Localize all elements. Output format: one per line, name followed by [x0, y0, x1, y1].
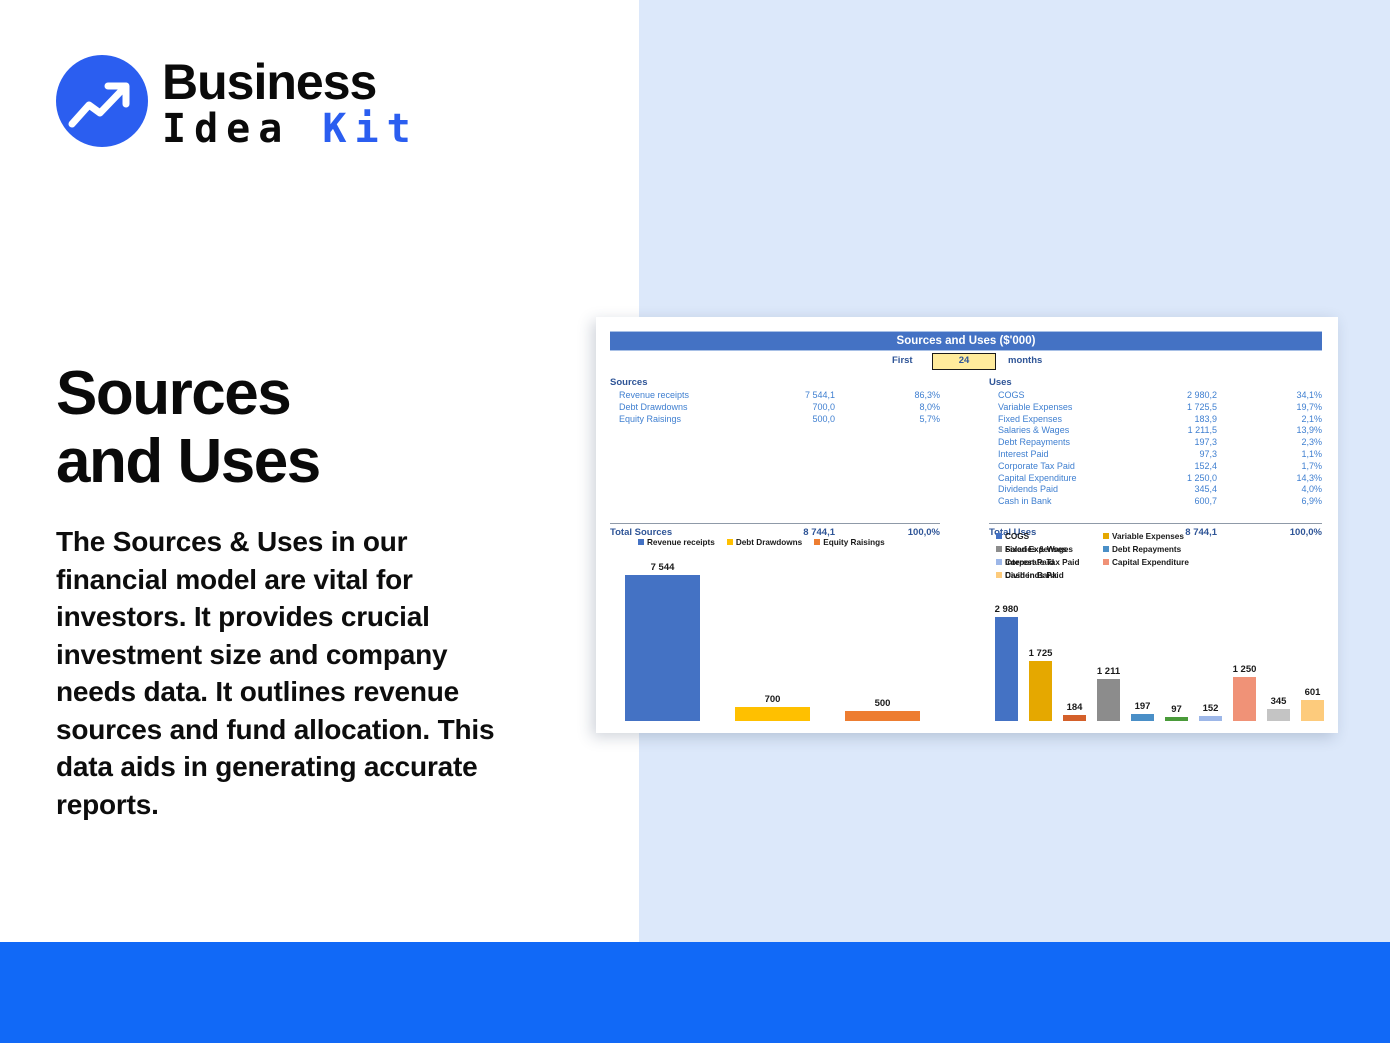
- legend-item[interactable]: Debt Repayments: [1103, 543, 1210, 556]
- legend-swatch-icon: [814, 539, 820, 545]
- bar-data-label: 601: [1289, 687, 1336, 698]
- legend-label: Corporate Tax Paid: [1005, 558, 1079, 567]
- period-prefix-label: First: [892, 355, 913, 366]
- bar-data-label: 7 544: [613, 562, 712, 573]
- legend-swatch-icon: [1103, 533, 1109, 539]
- bar: [1233, 677, 1256, 721]
- uses-row-label: COGS: [998, 390, 1025, 400]
- legend-item[interactable]: Salaries & Wages: [996, 543, 1103, 556]
- legend-swatch-icon: [1103, 546, 1109, 552]
- page-description: The Sources & Uses in our financial mode…: [56, 523, 506, 823]
- legend-swatch-icon: [727, 539, 733, 545]
- legend-swatch-icon: [996, 546, 1002, 552]
- growth-arrow-icon: [56, 55, 148, 147]
- uses-row-pct: 14,3%: [1296, 473, 1322, 483]
- slide-canvas: Business Idea Kit Sourcesand Uses The So…: [0, 0, 1390, 1043]
- uses-row-label: Cash in Bank: [998, 496, 1052, 506]
- legend-label: Variable Expenses: [1112, 532, 1184, 541]
- bar-data-label: 700: [723, 694, 822, 705]
- uses-row-value: 197,3: [1194, 437, 1217, 447]
- table-row: Cash in Bank600,76,9%: [989, 496, 1322, 508]
- table-row: Salaries & Wages1 211,513,9%: [989, 425, 1322, 437]
- period-selector-row: First 24 months: [610, 354, 1322, 370]
- brand-name-secondary-dark: Idea: [162, 106, 322, 152]
- uses-row-label: Variable Expenses: [998, 402, 1072, 412]
- bar-data-label: 500: [833, 698, 932, 709]
- uses-row-value: 345,4: [1194, 484, 1217, 494]
- legend-swatch-icon: [996, 572, 1002, 578]
- table-row: Variable Expenses1 725,519,7%: [989, 402, 1322, 414]
- brand-name-primary-text: Business: [162, 54, 376, 110]
- uses-chart-legend: COGSVariable ExpensesFixed ExpensesSalar…: [996, 530, 1316, 582]
- legend-label: Cash in Bank: [1005, 571, 1057, 580]
- table-row: Capital Expenditure1 250,014,3%: [989, 473, 1322, 485]
- sources-row-value: 700,0: [812, 402, 835, 412]
- uses-row-pct: 19,7%: [1296, 402, 1322, 412]
- uses-row-value: 1 211,5: [1188, 425, 1217, 435]
- sources-row-label: Revenue receipts: [619, 390, 689, 400]
- sources-table-header: Sources: [610, 377, 940, 388]
- sources-total-pct: 100,0%: [908, 527, 940, 538]
- table-row: Dividends Paid345,44,0%: [989, 484, 1322, 496]
- sheet-title: Sources and Uses ($'000): [610, 331, 1322, 351]
- months-input[interactable]: 24: [932, 353, 996, 370]
- uses-row-label: Interest Paid: [998, 449, 1049, 459]
- legend-label: Salaries & Wages: [1005, 545, 1073, 554]
- bar: [735, 707, 810, 721]
- legend-item[interactable]: Revenue receipts: [638, 538, 715, 547]
- uses-row-label: Dividends Paid: [998, 484, 1058, 494]
- sources-row-label: Equity Raisings: [619, 414, 681, 424]
- legend-swatch-icon: [638, 539, 644, 545]
- sources-total-label: Total Sources: [610, 527, 672, 538]
- legend-label: Equity Raisings: [823, 538, 884, 547]
- legend-label: Capital Expenditure: [1112, 558, 1189, 567]
- sources-rows: Revenue receipts7 544,186,3%Debt Drawdow…: [610, 390, 940, 425]
- sources-row-pct: 86,3%: [914, 390, 940, 400]
- legend-item[interactable]: COGS: [996, 530, 1103, 543]
- uses-row-label: Corporate Tax Paid: [998, 461, 1075, 471]
- legend-label: COGS: [1005, 532, 1029, 541]
- sources-row-value: 500,0: [812, 414, 835, 424]
- sources-total-value: 8 744,1: [803, 527, 835, 538]
- sources-total-divider: [610, 523, 940, 524]
- bar: [1301, 700, 1324, 721]
- sources-row-pct: 8,0%: [919, 402, 940, 412]
- bar: [1097, 679, 1120, 721]
- bar-data-label: 1 211: [1085, 666, 1132, 677]
- legend-item[interactable]: Equity Raisings: [814, 538, 884, 547]
- legend-label: Revenue receipts: [647, 538, 715, 547]
- brand-name-secondary-accent: Kit: [322, 106, 418, 152]
- period-suffix-label: months: [1008, 355, 1042, 366]
- uses-row-pct: 13,9%: [1296, 425, 1322, 435]
- uses-rows: COGS2 980,234,1%Variable Expenses1 725,5…: [989, 390, 1322, 508]
- uses-row-label: Fixed Expenses: [998, 414, 1062, 424]
- bar: [995, 617, 1018, 721]
- legend-label: Debt Repayments: [1112, 545, 1181, 554]
- bar: [845, 711, 920, 721]
- sources-chart-legend: Revenue receiptsDebt DrawdownsEquity Rai…: [638, 538, 938, 547]
- legend-item[interactable]: Corporate Tax Paid: [996, 556, 1103, 569]
- bar: [1199, 716, 1222, 721]
- uses-row-value: 1 250,0: [1187, 473, 1217, 483]
- sources-row-value: 7 544,1: [805, 390, 835, 400]
- bar-data-label: 2 980: [983, 604, 1030, 615]
- uses-row-value: 152,4: [1194, 461, 1217, 471]
- table-row: COGS2 980,234,1%: [989, 390, 1322, 402]
- sources-row-pct: 5,7%: [919, 414, 940, 424]
- uses-row-value: 97,3: [1199, 449, 1217, 459]
- uses-row-pct: 4,0%: [1301, 484, 1322, 494]
- legend-row: COGSVariable ExpensesFixed Expenses: [996, 530, 1316, 543]
- uses-row-value: 1 725,5: [1187, 402, 1217, 412]
- bar-data-label: 152: [1187, 703, 1234, 714]
- uses-table: Uses COGS2 980,234,1%Variable Expenses1 …: [989, 377, 1322, 508]
- legend-swatch-icon: [1103, 559, 1109, 565]
- legend-item[interactable]: Variable Expenses: [1103, 530, 1210, 543]
- legend-row: Corporate Tax PaidCapital ExpenditureDiv…: [996, 556, 1316, 569]
- footer-bar: [0, 942, 1390, 1043]
- uses-row-pct: 2,1%: [1301, 414, 1322, 424]
- bar: [1267, 709, 1290, 721]
- table-row: Corporate Tax Paid152,41,7%: [989, 461, 1322, 473]
- bar-data-label: 1 250: [1221, 664, 1268, 675]
- uses-row-value: 600,7: [1194, 496, 1217, 506]
- brand-logo: Business Idea Kit: [56, 54, 456, 154]
- uses-row-pct: 1,7%: [1301, 461, 1322, 471]
- table-row: Revenue receipts7 544,186,3%: [610, 390, 940, 402]
- uses-row-pct: 1,1%: [1301, 449, 1322, 459]
- sources-chart: 7 544700500: [625, 560, 945, 721]
- uses-row-pct: 2,3%: [1301, 437, 1322, 447]
- sources-table: Sources Revenue receipts7 544,186,3%Debt…: [610, 377, 940, 425]
- uses-row-value: 183,9: [1194, 414, 1217, 424]
- uses-chart: 2 9801 7251841 211197971521 250345601: [995, 600, 1325, 721]
- brand-name-primary: Business: [162, 54, 376, 110]
- legend-swatch-icon: [996, 533, 1002, 539]
- uses-row-pct: 6,9%: [1301, 496, 1322, 506]
- table-row: Fixed Expenses183,92,1%: [989, 414, 1322, 426]
- legend-row: Salaries & WagesDebt RepaymentsInterest …: [996, 543, 1316, 556]
- page-title: Sourcesand Uses: [56, 360, 576, 496]
- table-row: Interest Paid97,31,1%: [989, 449, 1322, 461]
- table-row: Debt Drawdowns700,08,0%: [610, 402, 940, 414]
- uses-row-value: 2 980,2: [1187, 390, 1217, 400]
- bar: [1029, 661, 1052, 721]
- uses-row-label: Capital Expenditure: [998, 473, 1077, 483]
- sources-row-label: Debt Drawdowns: [619, 402, 688, 412]
- legend-swatch-icon: [996, 559, 1002, 565]
- uses-table-header: Uses: [989, 377, 1322, 388]
- brand-name-secondary: Idea Kit: [162, 106, 419, 152]
- bar: [1165, 717, 1188, 721]
- uses-row-pct: 34,1%: [1296, 390, 1322, 400]
- legend-item[interactable]: Debt Drawdowns: [727, 538, 802, 547]
- legend-item[interactable]: Cash in Bank: [996, 569, 1103, 582]
- uses-total-divider: [989, 523, 1322, 524]
- table-row: Debt Repayments197,32,3%: [989, 437, 1322, 449]
- uses-row-label: Salaries & Wages: [998, 425, 1069, 435]
- bar-data-label: 184: [1051, 702, 1098, 713]
- legend-label: Debt Drawdowns: [736, 538, 802, 547]
- table-row: Equity Raisings500,05,7%: [610, 414, 940, 426]
- bar: [1063, 715, 1086, 721]
- legend-item[interactable]: Capital Expenditure: [1103, 556, 1210, 569]
- uses-row-label: Debt Repayments: [998, 437, 1070, 447]
- bar-data-label: 1 725: [1017, 648, 1064, 659]
- legend-row: Cash in Bank: [996, 569, 1316, 582]
- bar: [1131, 714, 1154, 721]
- bar: [625, 575, 700, 721]
